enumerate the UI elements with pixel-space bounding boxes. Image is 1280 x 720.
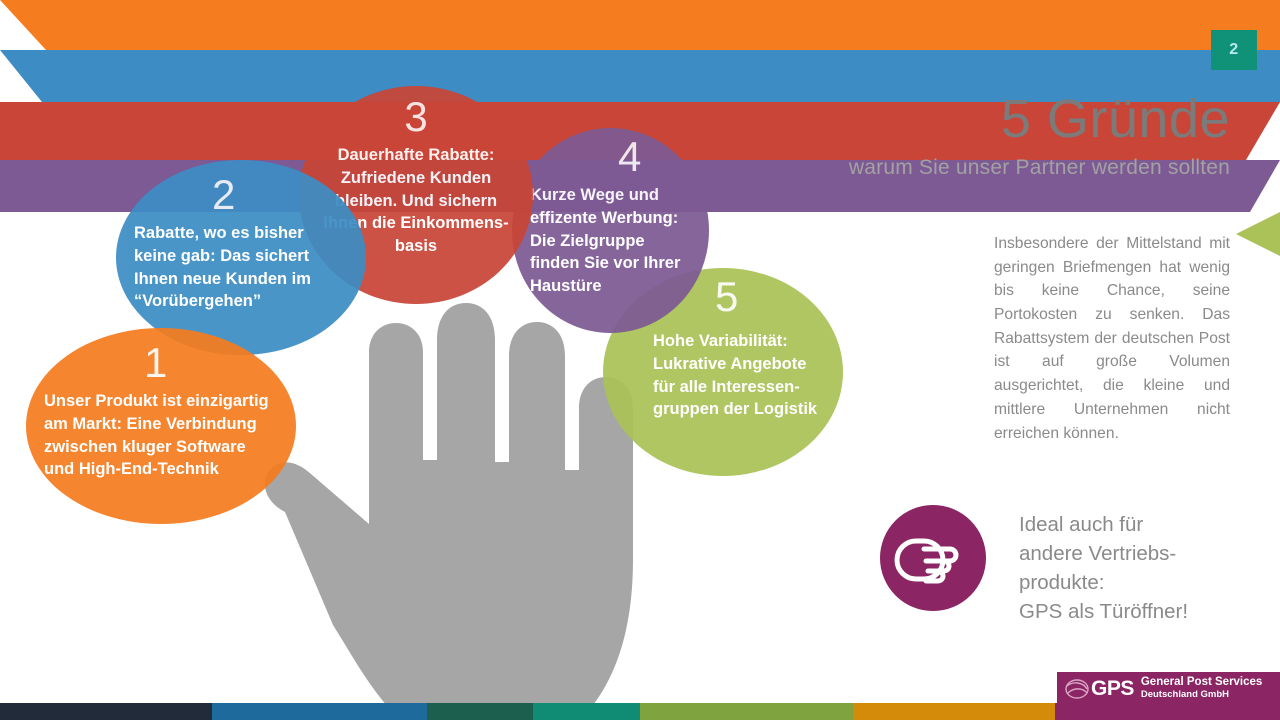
bottom-bar-segment-3 [427,703,533,720]
balloon-number-1: 1 [144,342,278,384]
balloon-unser-produkt[interactable]: 1 Unser Produkt ist einzigartig am Markt… [26,328,296,524]
logo-line-1: General Post Services [1141,676,1262,689]
balloon-rabatte[interactable]: 2 Rabatte, wo es bisher keine gab: Das s… [116,160,366,355]
balloon-number-3: 3 [317,96,515,138]
balloon-kurze-wege[interactable]: 4 Kurze Wege und effizente Werbung: Die … [512,128,709,333]
logo-brand: GPS [1091,677,1134,701]
slide-canvas: 2 5 Gründe warum Sie unser Partner werde… [0,0,1280,720]
gps-globe-icon [1064,677,1090,701]
bottom-bar-segment-4 [533,703,640,720]
bottom-bar-segment-5 [640,703,853,720]
bottom-bar-segment-1 [0,703,212,720]
balloon-text-4: Kurze Wege und effizente Werbung: Die Zi… [530,184,691,298]
balloon-text-5: Hohe Variabilität: Lukrative Angebote fü… [653,330,825,421]
bottom-color-bar [0,703,1280,720]
bottom-bar-segment-6 [853,703,1055,720]
balloon-number-2: 2 [212,174,348,216]
balloon-text-1: Unser Produkt ist einzigartig am Markt: … [44,390,278,481]
balloon-text-2: Rabatte, wo es bisher keine gab: Das sic… [134,222,348,313]
bottom-bar-segment-2 [212,703,427,720]
balloon-number-5: 5 [715,276,825,318]
bottom-bar-segment-7 [1055,703,1280,720]
logo-line-2: Deutschland GmbH [1141,690,1262,701]
balloon-number-4: 4 [618,136,691,178]
logo-wordmark: General Post Services Deutschland GmbH [1141,676,1262,700]
gps-logo: GPS General Post Services Deutschland Gm… [1057,672,1280,705]
